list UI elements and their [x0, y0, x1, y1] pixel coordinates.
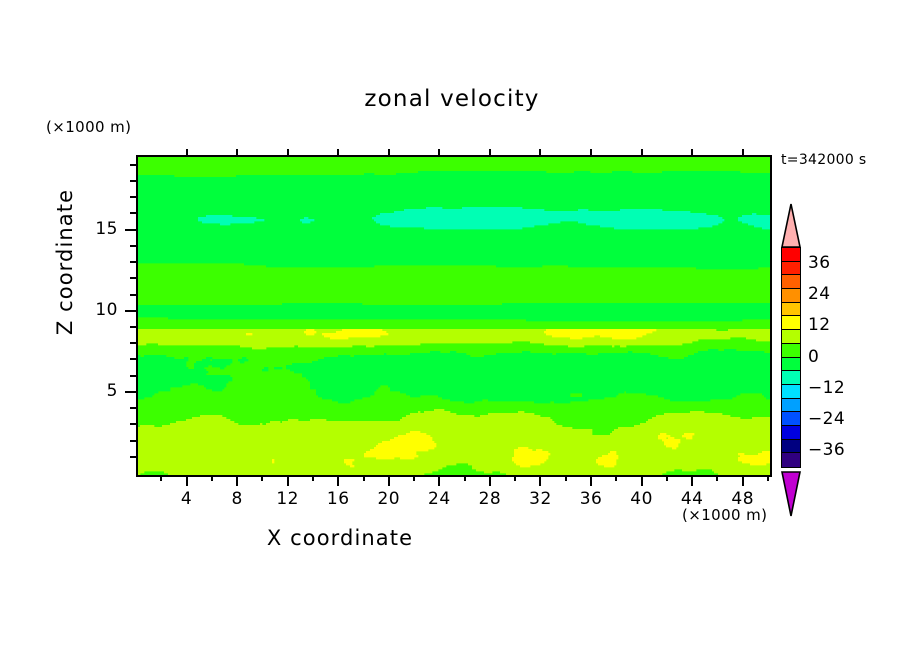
colorbar-band — [782, 275, 800, 289]
x-tick-major — [388, 475, 390, 486]
colorbar-band — [782, 289, 800, 303]
colorbar-band — [782, 453, 800, 467]
x-tick-label: 20 — [369, 489, 409, 509]
x-tick-minor — [363, 475, 365, 481]
y-tick-major — [125, 229, 136, 231]
x-tick-label: 44 — [672, 489, 712, 509]
y-tick-minor — [130, 440, 136, 442]
contour-plot-area — [136, 155, 772, 477]
x-tick-top — [337, 149, 339, 155]
colorbar-tick-label: 12 — [808, 315, 830, 335]
y-tick-minor — [130, 261, 136, 263]
y-tick-label: 10 — [78, 300, 118, 320]
x-tick-major — [438, 475, 440, 486]
x-tick-top — [539, 149, 541, 155]
x-tick-top — [641, 149, 643, 155]
y-tick-minor — [130, 294, 136, 296]
colorbar-band — [782, 399, 800, 413]
colorbar-band — [782, 371, 800, 385]
x-tick-minor — [464, 475, 466, 481]
timestamp-label: t=342000 s — [781, 152, 866, 168]
x-tick-top — [388, 149, 390, 155]
x-tick-top — [489, 149, 491, 155]
y-tick-minor — [130, 277, 136, 279]
x-tick-minor — [261, 475, 263, 481]
colorbar-band — [782, 426, 800, 440]
colorbar-tick-label: −36 — [808, 440, 845, 460]
x-axis-title: X coordinate — [0, 526, 680, 550]
colorbar-tick-label: 36 — [808, 253, 830, 273]
y-tick-minor — [130, 245, 136, 247]
colorbar-band — [782, 385, 800, 399]
colorbar-band — [782, 330, 800, 344]
x-tick-major — [236, 475, 238, 486]
colorbar-band — [782, 412, 800, 426]
x-tick-major — [539, 475, 541, 486]
x-tick-minor — [767, 475, 769, 481]
x-tick-major — [641, 475, 643, 486]
x-tick-label: 12 — [268, 489, 308, 509]
x-tick-major — [590, 475, 592, 486]
x-tick-minor — [666, 475, 668, 481]
y-axis-unit-label: (×1000 m) — [46, 118, 131, 136]
colorbar-band — [782, 440, 800, 454]
y-tick-minor — [130, 180, 136, 182]
x-tick-top — [287, 149, 289, 155]
y-tick-minor — [130, 342, 136, 344]
x-tick-top — [590, 149, 592, 155]
x-tick-top — [236, 149, 238, 155]
colorbar-band — [782, 316, 800, 330]
x-tick-top — [438, 149, 440, 155]
y-axis-title: Z coordinate — [53, 167, 77, 357]
x-tick-major — [337, 475, 339, 486]
y-tick-minor — [130, 456, 136, 458]
x-tick-minor — [312, 475, 314, 481]
x-tick-minor — [565, 475, 567, 481]
x-tick-label: 40 — [622, 489, 662, 509]
x-tick-top — [742, 149, 744, 155]
y-tick-minor — [130, 196, 136, 198]
x-tick-label: 48 — [723, 489, 763, 509]
colorbar-band — [782, 344, 800, 358]
x-tick-major — [691, 475, 693, 486]
x-tick-minor — [615, 475, 617, 481]
x-tick-major — [287, 475, 289, 486]
colorbar-tick-label: 0 — [808, 347, 819, 367]
x-tick-label: 16 — [318, 489, 358, 509]
colorbar-tick-label: −12 — [808, 378, 845, 398]
colorbar-band — [782, 262, 800, 276]
colorbar-under-arrow — [781, 467, 801, 517]
y-tick-minor — [130, 358, 136, 360]
colorbar-tick-label: −24 — [808, 409, 845, 429]
x-tick-label: 4 — [167, 489, 207, 509]
x-tick-minor — [716, 475, 718, 481]
y-tick-minor — [130, 164, 136, 166]
y-tick-major — [125, 391, 136, 393]
y-tick-minor — [130, 423, 136, 425]
x-tick-label: 28 — [470, 489, 510, 509]
x-tick-major — [489, 475, 491, 486]
y-tick-minor — [130, 407, 136, 409]
x-tick-minor — [514, 475, 516, 481]
colorbar-tick-label: 24 — [808, 284, 830, 304]
colorbar-band — [782, 303, 800, 317]
y-tick-label: 15 — [78, 219, 118, 239]
colorbar-band — [782, 248, 800, 262]
x-tick-label: 24 — [419, 489, 459, 509]
colorbar — [781, 247, 801, 468]
page-title: zonal velocity — [0, 86, 904, 112]
y-tick-minor — [130, 326, 136, 328]
x-tick-label: 32 — [520, 489, 560, 509]
x-tick-minor — [160, 475, 162, 481]
velocity-field — [138, 157, 770, 475]
y-tick-label: 5 — [78, 381, 118, 401]
x-tick-top — [186, 149, 188, 155]
x-tick-minor — [211, 475, 213, 481]
colorbar-band — [782, 358, 800, 372]
y-tick-major — [125, 310, 136, 312]
plot-canvas: zonal velocity (×1000 m) (×1000 m) t=342… — [0, 0, 904, 654]
colorbar-over-arrow — [781, 203, 801, 248]
y-tick-minor — [130, 212, 136, 214]
x-tick-minor — [413, 475, 415, 481]
x-tick-major — [742, 475, 744, 486]
y-tick-minor — [130, 375, 136, 377]
x-tick-label: 8 — [217, 489, 257, 509]
x-tick-label: 36 — [571, 489, 611, 509]
x-tick-major — [186, 475, 188, 486]
x-tick-top — [691, 149, 693, 155]
